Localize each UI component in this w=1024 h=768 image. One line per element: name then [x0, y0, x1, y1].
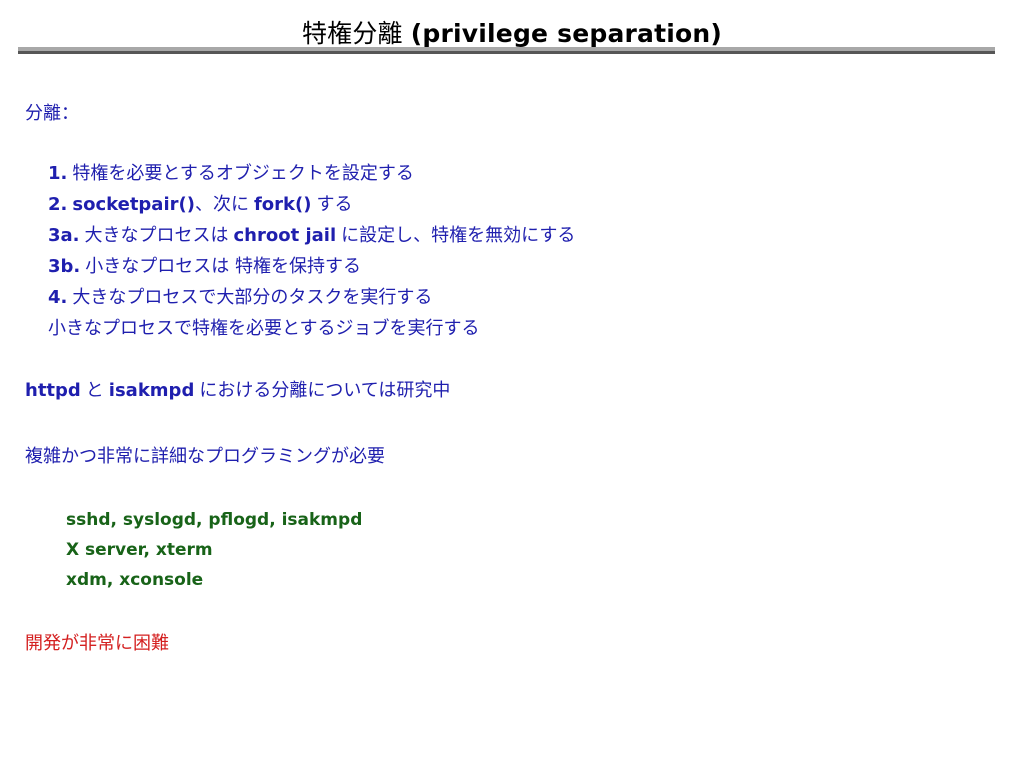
list-item-1-marker: 1.: [48, 163, 67, 184]
list-item-2-marker: 2.: [48, 194, 67, 215]
research-code-httpd: httpd: [25, 380, 81, 401]
research-status-line: httpdとisakmpdにおける分離については研究中: [25, 382, 450, 400]
service-list-item-xserver: X server, xterm: [66, 542, 213, 559]
list-item-3b: 3b.小きなプロセスは 特権を保持する: [48, 258, 361, 276]
list-item-2-code-socketpair: socketpair(): [72, 194, 195, 215]
list-item-1: 1.特権を必要とするオブジェクトを設定する: [48, 165, 414, 183]
service-list-item-daemons: sshd, syslogd, pflogd, isakmpd: [66, 512, 362, 529]
title-divider-rule: [18, 47, 995, 54]
list-item-3a-head: 大きなプロセスは: [85, 225, 229, 246]
list-item-4: 4.大きなプロセスで大部分のタスクを実行する: [48, 289, 432, 307]
list-item-2-tail: する: [316, 194, 352, 215]
list-item-4-marker: 4.: [48, 287, 67, 308]
list-item-4-text: 大きなプロセスで大部分のタスクを実行する: [72, 287, 432, 308]
programming-complexity-line: 複雑かつ非常に詳細なプログラミングが必要: [25, 448, 385, 466]
page-title-latin: (privilege separation): [411, 19, 722, 48]
list-item-1-text: 特権を必要とするオブジェクトを設定する: [72, 163, 413, 184]
service-list-item-xdm: xdm, xconsole: [66, 572, 203, 589]
list-item-4-continuation: 小きなプロセスで特権を必要とするジョブを実行する: [48, 320, 479, 338]
list-item-4-continuation-text: 小きなプロセスで特権を必要とするジョブを実行する: [48, 318, 479, 339]
separation-heading: 分離：: [25, 105, 79, 123]
research-tail: における分離については研究中: [199, 380, 450, 401]
list-item-3a-code-chroot-jail: chroot jail: [234, 225, 337, 246]
slide-body: 分離： 1.特権を必要とするオブジェクトを設定する 2.socketpair()…: [0, 60, 1024, 768]
slide: 特権分離(privilege separation) 分離： 1.特権を必要とす…: [0, 0, 1024, 768]
list-item-3b-text: 小きなプロセスは 特権を保持する: [85, 256, 361, 277]
list-item-2-mid: 、次に: [195, 194, 249, 215]
list-item-2: 2.socketpair()、次にfork()する: [48, 196, 352, 214]
slide-title-block: 特権分離(privilege separation): [0, 14, 1024, 50]
rule-shadow: [18, 51, 995, 54]
research-conjunction: と: [86, 380, 104, 401]
research-code-isakmpd: isakmpd: [109, 380, 195, 401]
difficulty-line: 開発が非常に困難: [25, 635, 169, 653]
list-item-2-code-fork: fork(): [254, 194, 312, 215]
list-item-3a-tail: に設定し、特権を無効にする: [341, 225, 575, 246]
list-item-3b-marker: 3b.: [48, 256, 80, 277]
list-item-3a: 3a.大きなプロセスはchroot jailに設定し、特権を無効にする: [48, 227, 575, 245]
list-item-3a-marker: 3a.: [48, 225, 80, 246]
page-title-japanese: 特権分離: [302, 19, 403, 48]
page-title: 特権分離(privilege separation): [302, 14, 722, 50]
